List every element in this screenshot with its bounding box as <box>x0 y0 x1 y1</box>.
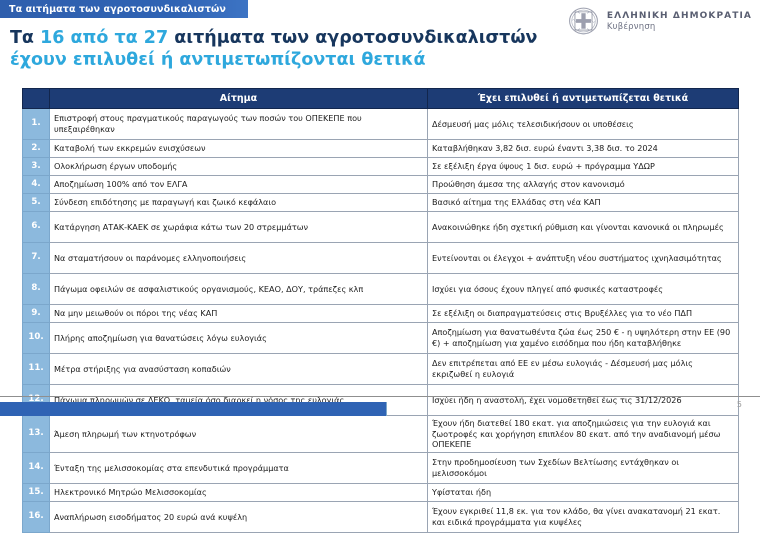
row-answer-text: Υφίσταται ήδη <box>428 484 739 502</box>
row-number: 7. <box>23 243 50 274</box>
row-answer-text: Βασικό αίτημα της Ελλάδας στη νέα ΚΑΠ <box>428 194 739 212</box>
row-number: 9. <box>23 305 50 323</box>
table-row: 5.Σύνδεση επιδότησης με παραγωγή και ζωι… <box>23 194 739 212</box>
row-request-text: Πάγωμα οφειλών σε ασφαλιστικούς οργανισμ… <box>50 274 428 305</box>
row-answer-text: Στην προδημοσίευση των Σχεδίων Βελτίωσης… <box>428 453 739 484</box>
column-header-number <box>23 89 50 109</box>
page-title-line-2: έχουν επιλυθεί ή αντιμετωπίζονται θετικά <box>10 49 570 71</box>
table-row: 1.Επιστροφή στους πραγματικούς παραγωγού… <box>23 109 739 140</box>
page-number: 5 <box>737 400 742 409</box>
row-request-text: Ολοκλήρωση έργων υποδομής <box>50 158 428 176</box>
table-row: 6.Κατάργηση ΑΤΑΚ-ΚΑΕΚ σε χωράφια κάτω τω… <box>23 212 739 243</box>
table-row: 8.Πάγωμα οφειλών σε ασφαλιστικούς οργανι… <box>23 274 739 305</box>
row-number: 4. <box>23 176 50 194</box>
row-request-text: Ένταξη της μελισσοκομίας στα επενδυτικά … <box>50 453 428 484</box>
row-answer-text: Δέσμευσή μας μόλις τελεσιδικήσουν οι υπο… <box>428 109 739 140</box>
row-number: 8. <box>23 274 50 305</box>
slide-title-banner: Τα αιτήματα των αγροτοσυνδικαλιστών <box>0 0 248 18</box>
row-answer-text: Ισχύει ήδη η αναστολή, έχει νομοθετηθεί … <box>428 385 739 416</box>
table-row: 15.Ηλεκτρονικό Μητρώο ΜελισσοκομίαςΥφίστ… <box>23 484 739 502</box>
table-row: 16.Αναπλήρωση εισοδήματος 20 ευρώ ανά κυ… <box>23 502 739 533</box>
page-title-highlight-count: 16 από τα 27 <box>40 28 168 48</box>
row-answer-text: Αποζημίωση για θανατωθέντα ζώα έως 250 €… <box>428 323 739 354</box>
row-answer-text: Έχουν εγκριθεί 11,8 εκ. για τον κλάδο, θ… <box>428 502 739 533</box>
requests-table: Αίτημα Έχει επιλυθεί ή αντιμετωπίζεται θ… <box>22 88 739 533</box>
row-request-text: Μέτρα στήριξης για ανασύσταση κοπαδιών <box>50 354 428 385</box>
table-row: 14.Ένταξη της μελισσοκομίας στα επενδυτι… <box>23 453 739 484</box>
table-row: 13.Άμεση πληρωμή των κτηνοτρόφωνΈχουν ήδ… <box>23 416 739 453</box>
row-number: 6. <box>23 212 50 243</box>
row-number: 16. <box>23 502 50 533</box>
table-row: 4.Αποζημίωση 100% από τον ΕΛΓΑΠροώθηση ά… <box>23 176 739 194</box>
row-request-text: Επιστροφή στους πραγματικούς παραγωγούς … <box>50 109 428 140</box>
government-logo: ΕΛΛΗΝΙΚΗ ΔΗΜΟΚΡΑΤΙΑ Κυβέρνηση <box>567 6 752 37</box>
table-row: 9.Να μην μειωθούν οι πόροι της νέας ΚΑΠΣ… <box>23 305 739 323</box>
row-answer-text: Ισχύει για όσους έχουν πληγεί από φυσικέ… <box>428 274 739 305</box>
page-title-seg-c: αιτήματα των αγροτοσυνδικαλιστών <box>168 28 537 48</box>
row-request-text: Ηλεκτρονικό Μητρώο Μελισσοκομίας <box>50 484 428 502</box>
table-row: 7.Να σταματήσουν οι παράνομες ελληνοποιή… <box>23 243 739 274</box>
government-logo-title: ΕΛΛΗΝΙΚΗ ΔΗΜΟΚΡΑΤΙΑ <box>607 11 752 22</box>
footer-accent-bar <box>0 402 387 416</box>
row-answer-text: Καταβλήθηκαν 3,82 δισ. ευρώ έναντι 3,38 … <box>428 140 739 158</box>
table-header-row: Αίτημα Έχει επιλυθεί ή αντιμετωπίζεται θ… <box>23 89 739 109</box>
row-number: 2. <box>23 140 50 158</box>
row-answer-text: Εντείνονται οι έλεγχοι + ανάπτυξη νέου σ… <box>428 243 739 274</box>
table-row: 11.Μέτρα στήριξης για ανασύσταση κοπαδιώ… <box>23 354 739 385</box>
page-title-seg-a: Τα <box>10 28 40 48</box>
table-row: 3.Ολοκλήρωση έργων υποδομήςΣε εξέλιξη έρ… <box>23 158 739 176</box>
row-request-text: Αναπλήρωση εισοδήματος 20 ευρώ ανά κυψέλ… <box>50 502 428 533</box>
government-logo-subtitle: Κυβέρνηση <box>607 22 752 32</box>
row-request-text: Αποζημίωση 100% από τον ΕΛΓΑ <box>50 176 428 194</box>
column-header-answer: Έχει επιλυθεί ή αντιμετωπίζεται θετικά <box>428 89 739 109</box>
row-number: 15. <box>23 484 50 502</box>
footer-divider <box>0 396 760 397</box>
table-row: 2.Καταβολή των εκκρεμών ενισχύσεωνΚαταβλ… <box>23 140 739 158</box>
table-row: 10.Πλήρης αποζημίωση για θανατώσεις λόγω… <box>23 323 739 354</box>
row-answer-text: Ανακοινώθηκε ήδη σχετική ρύθμιση και γίν… <box>428 212 739 243</box>
government-logo-text: ΕΛΛΗΝΙΚΗ ΔΗΜΟΚΡΑΤΙΑ Κυβέρνηση <box>607 11 752 33</box>
row-number: 13. <box>23 416 50 453</box>
slide-title-banner-text: Τα αιτήματα των αγροτοσυνδικαλιστών <box>0 4 226 15</box>
row-request-text: Καταβολή των εκκρεμών ενισχύσεων <box>50 140 428 158</box>
page-title: Τα 16 από τα 27 αιτήματα των αγροτοσυνδι… <box>10 27 570 72</box>
row-request-text: Άμεση πληρωμή των κτηνοτρόφων <box>50 416 428 453</box>
row-number: 10. <box>23 323 50 354</box>
row-answer-text: Σε εξέλιξη έργα ύψους 1 δισ. ευρώ + πρόγ… <box>428 158 739 176</box>
row-number: 14. <box>23 453 50 484</box>
greek-coat-of-arms-icon <box>567 6 600 37</box>
row-number: 5. <box>23 194 50 212</box>
row-request-text: Να μην μειωθούν οι πόροι της νέας ΚΑΠ <box>50 305 428 323</box>
row-answer-text: Σε εξέλιξη οι διαπραγματεύσεις στις Βρυξ… <box>428 305 739 323</box>
row-number: 1. <box>23 109 50 140</box>
page-title-line-1: Τα 16 από τα 27 αιτήματα των αγροτοσυνδι… <box>10 27 570 49</box>
column-header-request: Αίτημα <box>50 89 428 109</box>
row-answer-text: Προώθηση άμεσα της αλλαγής στον κανονισμ… <box>428 176 739 194</box>
table-body: 1.Επιστροφή στους πραγματικούς παραγωγού… <box>23 109 739 533</box>
row-request-text: Κατάργηση ΑΤΑΚ-ΚΑΕΚ σε χωράφια κάτω των … <box>50 212 428 243</box>
row-answer-text: Δεν επιτρέπεται από ΕΕ εν μέσω ευλογιάς … <box>428 354 739 385</box>
row-number: 3. <box>23 158 50 176</box>
row-request-text: Πλήρης αποζημίωση για θανατώσεις λόγω ευ… <box>50 323 428 354</box>
row-answer-text: Έχουν ήδη διατεθεί 180 εκατ. για αποζημι… <box>428 416 739 453</box>
row-number: 11. <box>23 354 50 385</box>
row-request-text: Να σταματήσουν οι παράνομες ελληνοποιήσε… <box>50 243 428 274</box>
row-request-text: Σύνδεση επιδότησης με παραγωγή και ζωικό… <box>50 194 428 212</box>
